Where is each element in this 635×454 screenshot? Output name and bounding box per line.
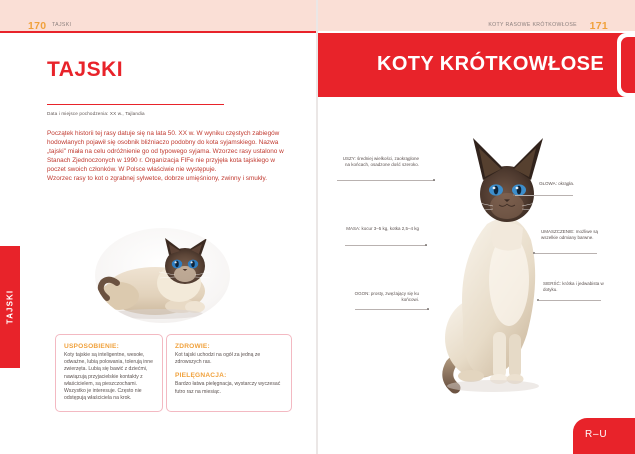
standing-cat-illustration [435, 120, 559, 410]
side-tab-breed: TAJSKI [0, 246, 20, 368]
book-spread: 170 TAJSKI TAJSKI Data i miejsce pochodz… [0, 0, 635, 454]
breed-photo-standing-cat [435, 120, 559, 410]
callout-coat-colour: UMASZCZENIE: możliwe są wszelkie odmiany… [541, 229, 613, 241]
callout-ears-dot [433, 179, 435, 181]
health-body: Kot tajski uchodzi na ogół za jedną ze z… [175, 352, 284, 366]
breed-photo-lying-cat [95, 228, 230, 323]
index-tab-bottom: R–U [573, 418, 635, 454]
info-box-temperament: USPOSOBIENIE: Koty tajskie są inteligent… [55, 334, 163, 412]
callout-tail-leader [355, 309, 429, 310]
section-title: KOTY KRÓTKOWŁOSE [377, 53, 604, 76]
index-tab-label: R–U [585, 429, 607, 440]
right-header-band [317, 0, 635, 31]
health-heading: ZDROWIE: [175, 343, 284, 350]
callout-mass-leader [345, 245, 427, 246]
banner-notch-inner [621, 37, 635, 93]
callout-coat-colour-leader [535, 253, 597, 254]
callout-fur-dot [537, 299, 539, 301]
info-box-inner: ZDROWIE: Kot tajski uchodzi na ogół za j… [167, 335, 291, 396]
callout-ears: USZY: średniej wielkości, zaokrąglone na… [337, 156, 419, 168]
info-box-health-care: ZDROWIE: Kot tajski uchodzi na ogół za j… [166, 334, 292, 412]
title-rule [47, 104, 224, 105]
grooming-heading: PIELĘGNACJA: [175, 372, 284, 379]
callout-tail-dot [427, 308, 429, 310]
grooming-body: Bardzo łatwa pielęgnacja, wystarczy wycz… [175, 381, 284, 395]
origin-line: Data i miejsce pochodzenia: XX w., Tajla… [47, 111, 145, 116]
callout-head: GŁOWA: okrągła. [539, 181, 609, 187]
callout-head-dot [513, 194, 515, 196]
lying-cat-illustration [95, 228, 230, 323]
running-head-left: TAJSKI [52, 22, 71, 28]
side-tab-label: TAJSKI [6, 290, 15, 324]
intro-paragraph-1: Początek historii tej rasy datuje się na… [47, 129, 290, 174]
intro-paragraph-2: Wzorzec rasy to kot o zgrabnej sylwetce,… [47, 174, 290, 183]
callout-fur: SIERŚĆ: krótka i jedwabista w dotyku. [543, 281, 617, 293]
running-head-right: KOTY RASOWE KRÓTKOWŁOSE [488, 22, 577, 28]
callout-fur-leader [539, 300, 601, 301]
breed-title: TAJSKI [47, 58, 123, 82]
info-box-inner: USPOSOBIENIE: Koty tajskie są inteligent… [56, 335, 162, 402]
callout-head-leader [515, 195, 573, 196]
callout-coat-colour-dot [533, 252, 535, 254]
callout-mass: MASA: kocur 3–5 kg, kotka 2,5–4 kg [337, 226, 419, 232]
left-page: 170 TAJSKI TAJSKI Data i miejsce pochodz… [0, 0, 317, 454]
callout-ears-leader [337, 180, 435, 181]
temperament-body: Koty tajskie są inteligentne, wesołe, od… [64, 352, 155, 402]
left-header-rule [0, 31, 317, 33]
page-spine [316, 0, 318, 454]
page-number-left: 170 [28, 20, 46, 32]
page-number-right: 171 [590, 20, 608, 32]
intro-text: Początek historii tej rasy datuje się na… [47, 129, 290, 184]
callout-mass-dot [425, 244, 427, 246]
temperament-heading: USPOSOBIENIE: [64, 343, 155, 350]
callout-tail: OGON: prosty, zwężający się ku końcowi. [341, 291, 419, 303]
left-header-band [0, 0, 317, 31]
right-page: KOTY RASOWE KRÓTKOWŁOSE 171 KOTY KRÓTKOW… [317, 0, 635, 454]
